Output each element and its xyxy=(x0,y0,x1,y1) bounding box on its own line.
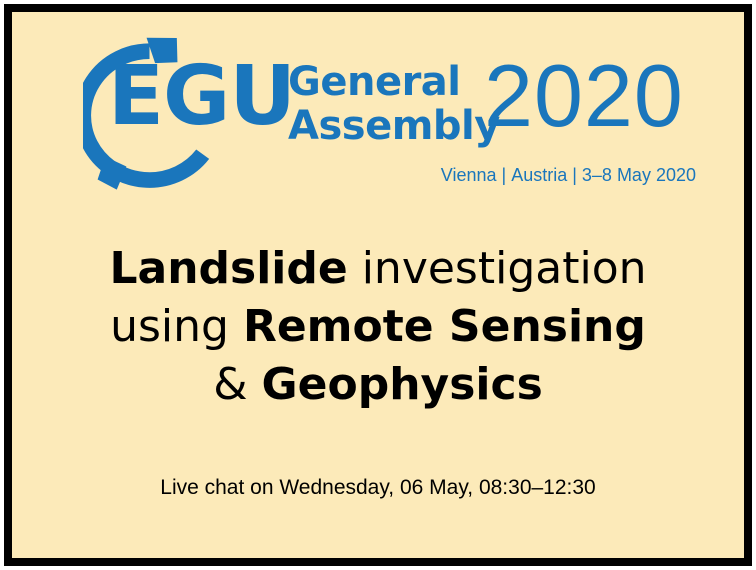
assembly-line: Assembly xyxy=(288,104,500,148)
general-assembly-text: General Assembly xyxy=(288,60,500,148)
title-ampersand: & xyxy=(213,359,261,410)
session-title: Landslide investigation using Remote Sen… xyxy=(12,240,744,414)
title-using: using xyxy=(110,301,243,352)
venue-city: Vienna xyxy=(441,165,497,185)
live-chat-info: Live chat on Wednesday, 06 May, 08:30–12… xyxy=(12,474,744,502)
title-geophysics: Geophysics xyxy=(262,359,543,410)
egu-logo-lockup: EGU General Assembly 2020 Vienna|Austria… xyxy=(12,12,744,202)
general-line: General xyxy=(288,60,500,104)
slide-frame: EGU General Assembly 2020 Vienna|Austria… xyxy=(4,4,752,566)
session-title-line-3: & Geophysics xyxy=(12,356,744,414)
subtitle-separator-2: | xyxy=(567,165,582,185)
slide-body: EGU General Assembly 2020 Vienna|Austria… xyxy=(12,12,744,558)
title-remote-sensing: Remote Sensing xyxy=(243,301,646,352)
title-investigation: investigation xyxy=(348,243,647,294)
egu-wordmark: EGU xyxy=(108,56,295,138)
session-title-line-2: using Remote Sensing xyxy=(12,298,744,356)
assembly-year: 2020 xyxy=(484,50,684,142)
venue-country: Austria xyxy=(511,165,567,185)
subtitle-separator-1: | xyxy=(497,165,512,185)
title-landslide: Landslide xyxy=(109,243,347,294)
venue-dates: 3–8 May 2020 xyxy=(582,165,696,185)
venue-date-subtitle: Vienna|Austria|3–8 May 2020 xyxy=(441,164,696,186)
session-title-line-1: Landslide investigation xyxy=(12,240,744,298)
